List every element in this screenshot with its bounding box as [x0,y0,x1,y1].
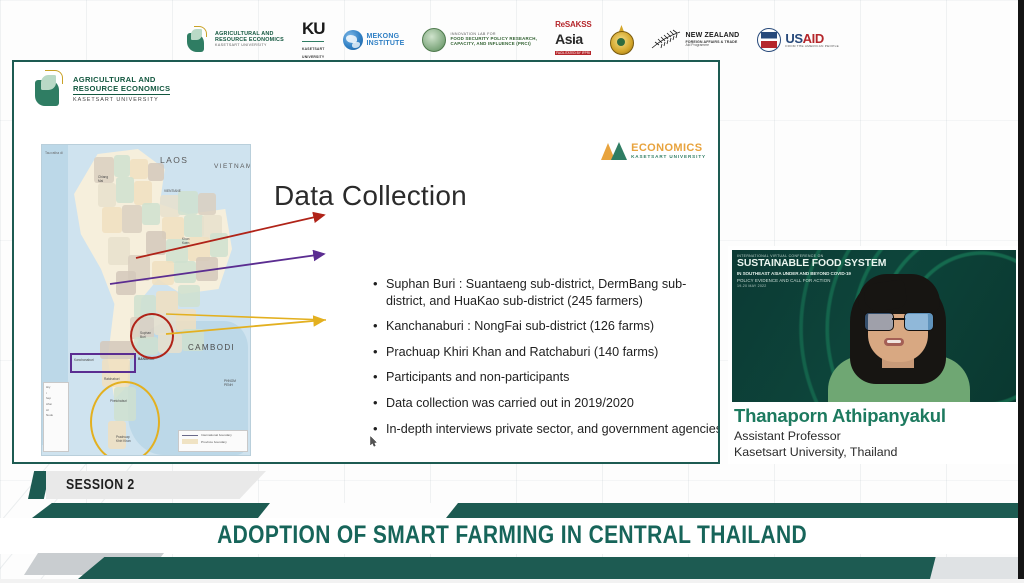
map-city-ratchaburi: Ratchaburi [104,377,119,381]
legend-item: Province boundary [182,439,244,444]
map-country-laos: LAOS [160,155,188,165]
map-highlight-suphan-buri [130,313,174,359]
list-item: Participants and non-participants [372,369,720,386]
speaker-info: Thanaporn Athipanyakul Assistant Profess… [734,406,1014,461]
bottom-edge-bar [0,579,1024,583]
list-item: Prachuap Khiri Khan and Ratchaburi (140 … [372,344,720,361]
map-highlight-prachuap-ratchaburi [90,381,160,456]
map-city-khon-kaen: KhonKaen [182,237,189,245]
logo-prci: INNOVATION LAB FOR FOOD SECURITY POLICY … [422,21,537,59]
legend-label: Province boundary [201,440,227,444]
overlay-title: SUSTAINABLE FOOD SYSTEM [737,259,887,270]
banner-band-lower [78,557,958,579]
legend-label: International boundary [201,433,232,437]
map-highlight-kanchanaburi [70,353,136,373]
presentation-slide[interactable]: AGRICULTURAL AND RESOURCE ECONOMICS KASE… [12,60,720,464]
leaf-logo-icon [185,26,211,54]
speaker-video-panel[interactable]: INTERNATIONAL VIRTUAL CONFERENCE ON SUST… [728,246,1020,464]
prci-line-3: CAPACITY, AND INFLUENCE (PRCI) [450,42,537,47]
map-city-phnom-penh: PHNOMPENH [224,379,236,387]
slide-title: Data Collection [274,180,467,212]
overlay-eyebrow: INTERNATIONAL VIRTUAL CONFERENCE ON [737,254,887,258]
logo-royal-thai [609,21,633,59]
resakss-wordmark-icon: ReSAKSS [555,21,591,29]
slide-brand-logo: AGRICULTURAL AND RESOURCE ECONOMICS KASE… [32,70,170,108]
mekong-line-2: INSTITUTE [367,40,405,47]
usaid-tagline: FROM THE AMERICAN PEOPLE [785,45,839,48]
list-item: In-depth interviews private sector, and … [372,421,720,438]
slide-logo-line-2: RESOURCE ECONOMICS [73,84,170,95]
partner-logo-strip: AGRICULTURAL AND RESOURCE ECONOMICS KASE… [0,18,1024,62]
lower-third-banner: SESSION 2 ADOPTION OF SMART FARMING IN C… [0,463,1024,583]
econ-line-1: ECONOMICS [631,143,706,154]
ku-divider [302,41,324,42]
list-item: Data collection was carried out in 2019/… [372,395,720,412]
speaker-organization: Kasetsart University, Thailand [734,444,1014,460]
list-item: Kanchanaburi : NongFai sub-district (126… [372,318,720,335]
list-item: Suphan Buri : Suantaeng sub-district, De… [372,276,720,309]
banner-band-tail [930,557,1024,579]
slide-logo-line-3: KASETSART UNIVERSITY [73,97,170,103]
resakss-asia-label: Asia [555,32,583,46]
banner-band-notch [258,503,458,518]
prci-globe-icon [422,28,446,52]
map-legend: International boundary Province boundary [178,430,248,452]
ku-monogram-icon: KU [302,21,325,36]
usaid-seal-icon [757,28,781,52]
banner-band-upper [32,503,1024,518]
royal-thai-seal-icon [609,26,633,54]
map-city-chiang-mai: ChiangMai [98,175,108,183]
map-corner-note: Tau ratha di [45,151,63,155]
econ-line-2: KASETSART UNIVERSITY [631,154,706,159]
globe-icon [343,30,363,50]
logo-ku: KU KASETSART UNIVERSITY [302,21,325,59]
logo-mekong-institute: MEKONG INSTITUTE [343,21,405,59]
economics-chevron-icon [601,142,627,160]
logo-resakss-asia: ReSAKSS Asia FACILITATED BY IFPRI [555,21,591,59]
nz-line-1: NEW ZEALAND [685,32,739,40]
map-side-note: HiyihepAfonAlNook [43,382,69,452]
speaker-role: Assistant Professor [734,428,1014,444]
banner-title: ADOPTION OF SMART FARMING IN CENTRAL THA… [0,521,1024,550]
resakss-footnote: FACILITATED BY IFPRI [555,51,591,55]
glasses-icon [864,312,934,329]
nz-line-3: Aid Programme [685,44,739,48]
right-edge-bar [1018,0,1024,583]
broadcast-stage: AGRICULTURAL AND RESOURCE ECONOMICS KASE… [0,0,1024,583]
legend-item: International boundary [182,433,244,437]
legend-line-icon [182,435,198,436]
mekong-line-1: MEKONG [367,33,405,40]
session-label: SESSION 2 [66,476,135,493]
logo-line-3: KASETSART UNIVERSITY [215,44,284,48]
slide-bullet-list: Suphan Buri : Suantaeng sub-district, De… [332,276,720,446]
ku-line-3: UNIVERSITY [302,55,324,59]
ku-line-2: KASETSART [302,47,325,51]
logo-new-zealand-mfat: NEW ZEALAND FOREIGN AFFAIRS & TRADE Aid … [651,21,739,59]
logo-usaid: USAID FROM THE AMERICAN PEOPLE [757,21,839,59]
map-country-cambodia: CAMBODI [188,343,235,352]
map-country-vietnam: VIETNAM [214,163,251,170]
leaf-logo-icon [32,70,68,108]
video-feed[interactable]: INTERNATIONAL VIRTUAL CONFERENCE ON SUST… [732,250,1016,402]
speaker-portrait [824,272,974,402]
thailand-map: LAOS VIETNAM CAMBODI BANGKOK VIENTIANE P… [41,144,251,456]
speaker-name: Thanaporn Athipanyakul [734,406,1014,426]
logo-are-kasetsart: AGRICULTURAL AND RESOURCE ECONOMICS KASE… [185,21,284,59]
map-city-vientiane: VIENTIANE [164,189,181,193]
legend-swatch-icon [182,439,198,444]
slide-economics-logo: ECONOMICS KASETSART UNIVERSITY [601,142,706,160]
silver-fern-icon [651,29,681,51]
mouse-pointer-icon [370,436,377,447]
slide-logo-line-1: AGRICULTURAL AND [73,75,170,84]
